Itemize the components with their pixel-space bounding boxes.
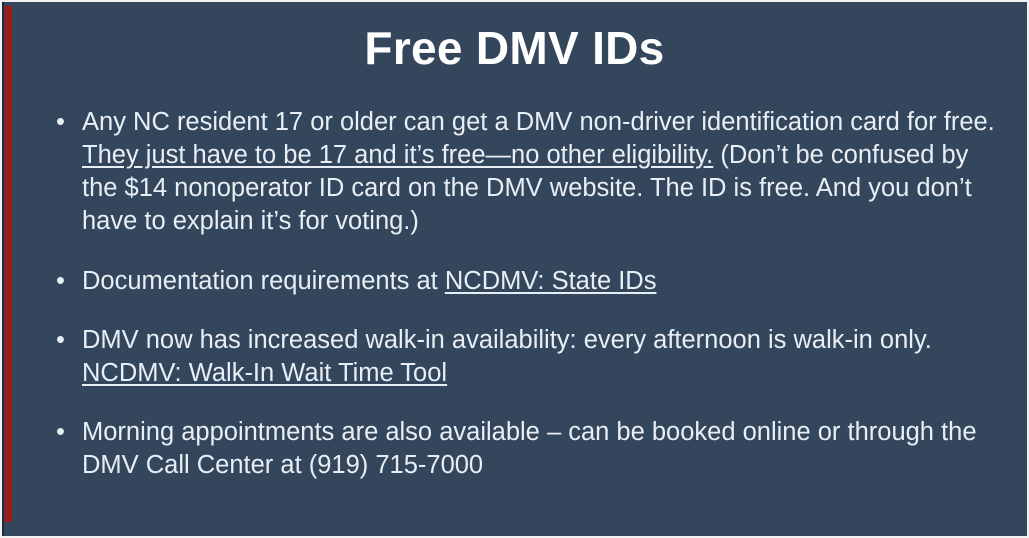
bullet-marker: • <box>42 265 82 298</box>
hyperlink[interactable]: NCDMV: State IDs <box>445 267 657 295</box>
text-run: Any NC resident 17 or older can get a DM… <box>82 108 995 136</box>
bullet-item-documentation: • Documentation requirements at NCDMV: S… <box>42 265 1010 298</box>
bullet-text: Documentation requirements at NCDMV: Sta… <box>82 265 1010 298</box>
text-run: Documentation requirements at <box>82 267 445 295</box>
text-run: Morning appointments are also available … <box>82 418 977 479</box>
bullet-marker: • <box>42 416 82 449</box>
bullet-item-walkin: • DMV now has increased walk-in availabi… <box>42 324 1010 390</box>
bullet-item-free-id: • Any NC resident 17 or older can get a … <box>42 106 1010 239</box>
emphasis-underlined-text: They just have to be 17 and it’s free—no… <box>82 141 713 169</box>
text-run: DMV now has increased walk-in availabili… <box>82 326 932 354</box>
slide-title: Free DMV IDs <box>2 22 1027 75</box>
bullet-marker: • <box>42 106 82 139</box>
bullet-text: DMV now has increased walk-in availabili… <box>82 324 1010 390</box>
hyperlink[interactable]: NCDMV: Walk-In Wait Time Tool <box>82 359 447 387</box>
bullet-text: Any NC resident 17 or older can get a DM… <box>82 106 1010 239</box>
slide: Free DMV IDs • Any NC resident 17 or old… <box>0 0 1029 538</box>
accent-stripe <box>5 6 12 522</box>
bullet-text: Morning appointments are also available … <box>82 416 1010 482</box>
slide-body: • Any NC resident 17 or older can get a … <box>42 106 1010 482</box>
bullet-item-appointments: • Morning appointments are also availabl… <box>42 416 1010 482</box>
left-edge-rule <box>2 2 4 536</box>
bullet-marker: • <box>42 324 82 357</box>
